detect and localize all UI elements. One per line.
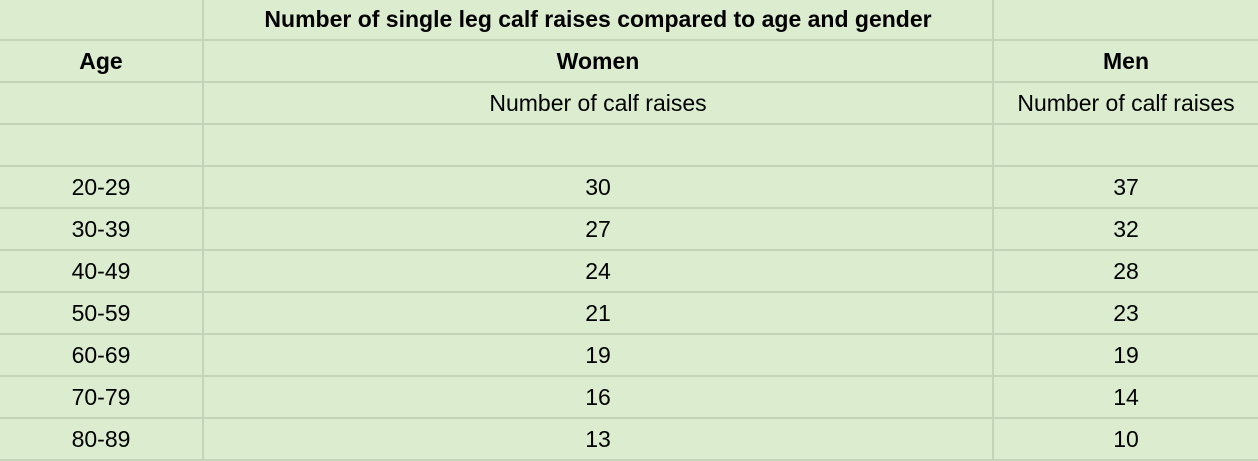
cell-men: 23: [993, 292, 1258, 334]
table-container: Number of single leg calf raises compare…: [0, 0, 1258, 461]
spacer-cell-women: [203, 124, 993, 166]
cell-women: 21: [203, 292, 993, 334]
cell-men: 14: [993, 376, 1258, 418]
cell-women: 13: [203, 418, 993, 460]
cell-men: 19: [993, 334, 1258, 376]
cell-men: 32: [993, 208, 1258, 250]
column-header-age: Age: [0, 40, 203, 82]
cell-age: 30-39: [0, 208, 203, 250]
table-header-row: Age Women Men: [0, 40, 1258, 82]
spacer-cell-men: [993, 124, 1258, 166]
table-row: 60-69 19 19: [0, 334, 1258, 376]
spacer-cell-age: [0, 124, 203, 166]
cell-men: 28: [993, 250, 1258, 292]
cell-men: 37: [993, 166, 1258, 208]
cell-age: 80-89: [0, 418, 203, 460]
table-spacer-row: [0, 124, 1258, 166]
table-row: 70-79 16 14: [0, 376, 1258, 418]
subheader-age: [0, 82, 203, 124]
cell-age: 20-29: [0, 166, 203, 208]
subheader-women: Number of calf raises: [203, 82, 993, 124]
table-row: 30-39 27 32: [0, 208, 1258, 250]
cell-women: 16: [203, 376, 993, 418]
cell-age: 50-59: [0, 292, 203, 334]
subheader-men: Number of calf raises: [993, 82, 1258, 124]
column-header-men: Men: [993, 40, 1258, 82]
cell-men: 10: [993, 418, 1258, 460]
table-title-row: Number of single leg calf raises compare…: [0, 0, 1258, 40]
table-row: 20-29 30 37: [0, 166, 1258, 208]
cell-women: 30: [203, 166, 993, 208]
title-row-age-spacer: [0, 0, 203, 40]
cell-women: 19: [203, 334, 993, 376]
cell-women: 27: [203, 208, 993, 250]
calf-raises-table: Number of single leg calf raises compare…: [0, 0, 1258, 461]
column-header-women: Women: [203, 40, 993, 82]
table-row: 40-49 24 28: [0, 250, 1258, 292]
table-row: 80-89 13 10: [0, 418, 1258, 460]
cell-age: 40-49: [0, 250, 203, 292]
table-row: 50-59 21 23: [0, 292, 1258, 334]
cell-age: 70-79: [0, 376, 203, 418]
title-row-men-spacer: [993, 0, 1258, 40]
cell-women: 24: [203, 250, 993, 292]
table-title: Number of single leg calf raises compare…: [203, 0, 993, 40]
table-subheader-row: Number of calf raises Number of calf rai…: [0, 82, 1258, 124]
cell-age: 60-69: [0, 334, 203, 376]
